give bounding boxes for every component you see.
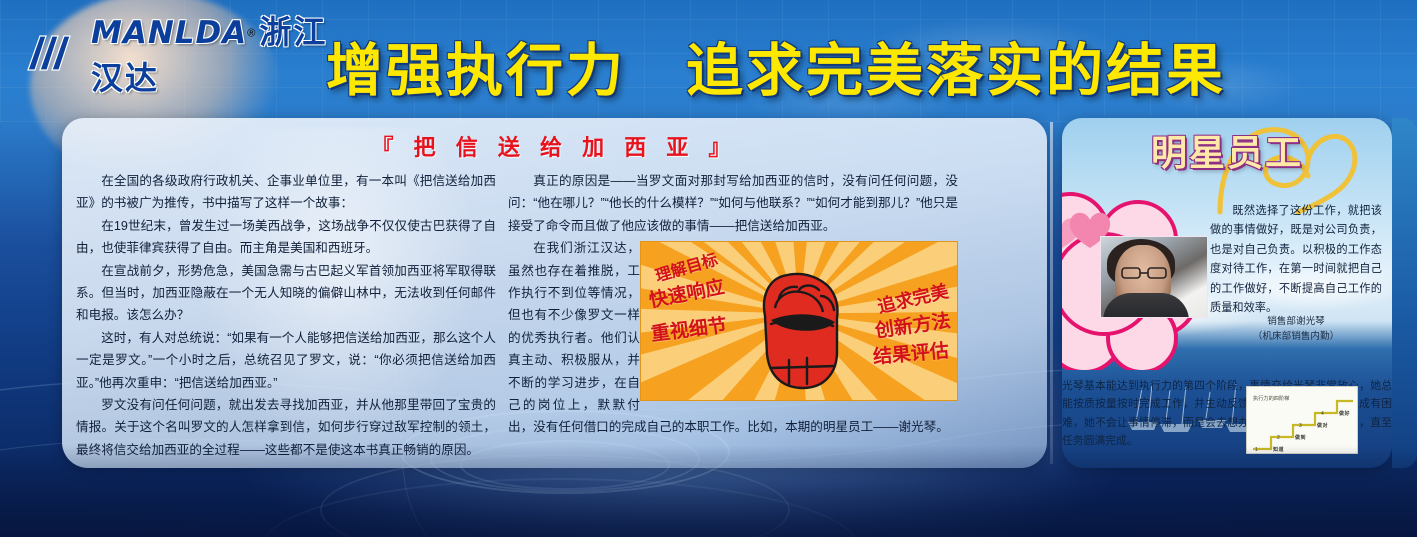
step-num-2: 2 (1277, 429, 1280, 448)
paragraph: 这时，有人对总统说：“如果有一个人能够把信送给加西亚，那么这个人一定是罗文。”一… (76, 327, 496, 394)
panel-divider (1050, 122, 1053, 464)
paragraph: 罗文没有问任何问题，就出发去寻找加西亚，并从他那里带回了宝贵的情报。关于这个名叫… (76, 394, 496, 461)
step-num-3: 3 (1299, 417, 1302, 436)
employee-signature: 销售部谢光琴 （机床部销售内勤） (1210, 314, 1382, 344)
signature-name: 销售部谢光琴 (1210, 314, 1382, 329)
article-panel: 『 把 信 送 给 加 西 亚 』 在全国的各级政府行政机关、企事业单位里，有一… (62, 118, 1047, 468)
article-subtitle: 『 把 信 送 给 加 西 亚 』 (62, 130, 1047, 162)
article-column-2: 真正的原因是——当罗文面对那封写给加西亚的信时，没有问任何问题，没问：“他在哪儿… (508, 170, 958, 439)
fist-slogan-graphic: 理解目标 快速响应 重视细节 追求完美 创新方法 结果评估 (640, 241, 958, 401)
registered-trademark-icon: ® (247, 28, 255, 40)
manlda-logo-mark-icon (26, 34, 82, 72)
star-employee-title: 明星员工 (1062, 124, 1392, 176)
signature-role: （机床部销售内勤） (1210, 329, 1382, 344)
poster-root: MANLDA®浙江汉达 增强执行力 追求完美落实的结果 『 把 信 送 给 加 … (0, 0, 1417, 537)
photo-body (1103, 293, 1189, 318)
employee-quote: 既然选择了这份工作，就把该做的事情做好，既是对公司负责，也是对自己负责。以积极的… (1210, 202, 1382, 318)
paragraph: 在宣战前夕，形势危急，美国急需与古巴起义军首领加西亚将军取得联系。但当时，加西亚… (76, 260, 496, 327)
glasses-icon (1121, 267, 1167, 279)
step-label-4: 做好 (1339, 405, 1350, 424)
leader-note: 领导寄语： 光琴基本能达到执行力的第四个阶段，事情交给光琴非常放心，她总能按质按… (1062, 358, 1392, 451)
logo-latin-text: MANLDA (91, 15, 247, 51)
page-title: 增强执行力 追求完美落实的结果 (336, 24, 1216, 108)
star-employee-panel: 明星员工 (1062, 118, 1392, 468)
step-num-1: 1 (1255, 441, 1258, 460)
brand-logo: MANLDA®浙江汉达 (26, 22, 356, 84)
quote-text: 既然选择了这份工作，就把该做的事情做好，既是对公司负责，也是对自己负责。以积极的… (1210, 202, 1382, 318)
article-column-1: 在全国的各级政府行政机关、企事业单位里，有一本叫《把信送给加西亚》的书被广为推传… (76, 170, 496, 461)
step-num-4: 4 (1321, 405, 1324, 424)
paragraph: 真正的原因是——当罗文面对那封写给加西亚的信时，没有问任何问题，没问：“他在哪儿… (508, 170, 958, 237)
article-columns: 在全国的各级政府行政机关、企事业单位里，有一本叫《把信送给加西亚》的书被广为推传… (62, 170, 1047, 466)
execution-stairs-chart: 执行力的四阶梯 1 知道 2 做到 3 做对 4 做好 (1246, 386, 1358, 454)
raised-fist-icon (745, 256, 853, 396)
right-edge-strip (1392, 118, 1417, 468)
paragraph: 在全国的各级政府行政机关、企事业单位里，有一本叫《把信送给加西亚》的书被广为推传… (76, 170, 496, 215)
employee-photo (1100, 236, 1208, 318)
paragraph: 在19世纪末，曾发生过一场美西战争，这场战争不仅仅使古巴获得了自由，也使菲律宾获… (76, 215, 496, 260)
